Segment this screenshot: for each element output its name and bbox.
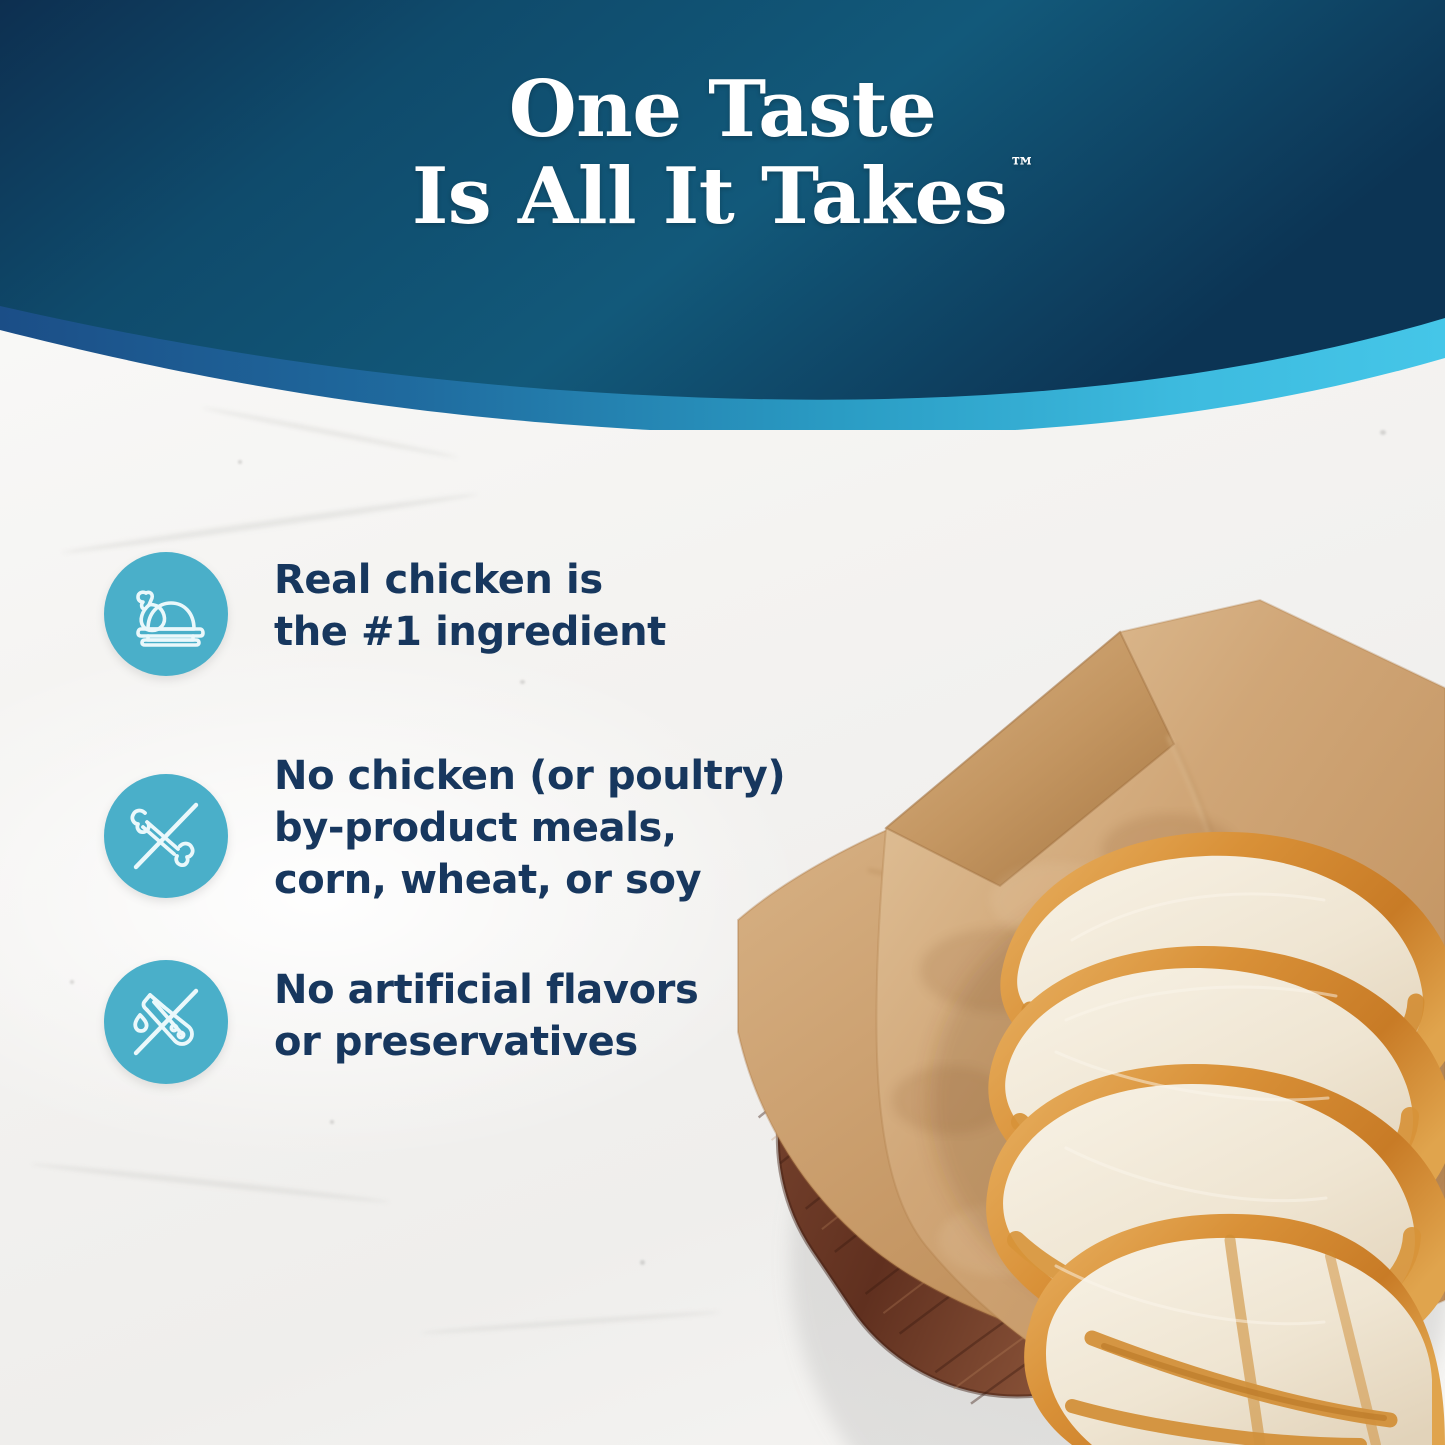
benefit-line: No artificial flavors (274, 964, 698, 1016)
no-bone-icon (104, 774, 228, 898)
benefit-line: the #1 ingredient (274, 606, 666, 658)
benefit-line: Real chicken is (274, 554, 666, 606)
benefit-item-real-chicken: Real chicken is the #1 ingredient (104, 548, 864, 676)
benefit-line: corn, wheat, or soy (274, 854, 785, 906)
benefit-line: or preservatives (274, 1016, 698, 1068)
promo-poster: One Taste Is All It Takes™ (0, 0, 1445, 1445)
headline-line-2-text: Is All It Takes (412, 151, 1007, 242)
no-test-tube-icon (104, 960, 228, 1084)
benefit-line: by-product meals, (274, 802, 785, 854)
benefit-text-no-artificial: No artificial flavors or preservatives (274, 958, 698, 1068)
headline-line-2: Is All It Takes™ (0, 153, 1445, 240)
benefit-line: No chicken (or poultry) (274, 750, 785, 802)
trademark-symbol: ™ (1009, 153, 1035, 183)
benefit-item-no-artificial: No artificial flavors or preservatives (104, 958, 864, 1084)
benefit-item-no-byproducts: No chicken (or poultry) by-product meals… (104, 744, 864, 906)
page-title: One Taste Is All It Takes™ (0, 66, 1445, 241)
benefits-list: Real chicken is the #1 ingredient No chi… (104, 548, 864, 1084)
roast-chicken-on-platter-icon (104, 552, 228, 676)
benefit-text-real-chicken: Real chicken is the #1 ingredient (274, 548, 666, 658)
headline-line-1: One Taste (0, 66, 1445, 153)
benefit-text-no-byproducts: No chicken (or poultry) by-product meals… (274, 744, 785, 906)
header-band: One Taste Is All It Takes™ (0, 0, 1445, 430)
